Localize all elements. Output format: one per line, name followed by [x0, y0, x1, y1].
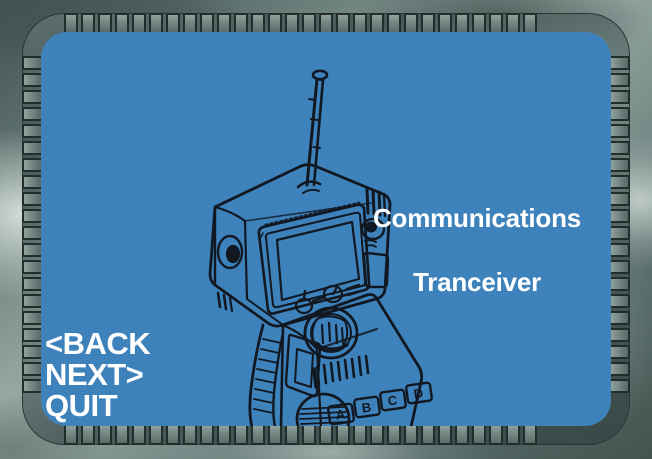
frame-notch-segment: [22, 345, 43, 359]
frame-notch-segment: [438, 13, 452, 34]
frame-notch-segment: [115, 13, 129, 34]
frame-notches-top: [64, 13, 588, 34]
frame-notch-segment: [302, 424, 316, 445]
frame-notch-segment: [183, 424, 197, 445]
frame-notch-segment: [234, 424, 248, 445]
rotary-dial: [305, 308, 357, 358]
frame-notch-segment: [98, 424, 112, 445]
page-title-line-1: Communications: [373, 203, 581, 233]
frame-notch-segment: [200, 13, 214, 34]
frame-notch-segment: [166, 13, 180, 34]
frame-notch-segment: [421, 13, 435, 34]
frame-notch-segment: [22, 107, 43, 121]
frame-notch-segment: [64, 13, 78, 34]
lens-port: [218, 236, 242, 311]
frame-notch-segment: [285, 424, 299, 445]
menu-item-back[interactable]: <BACK: [45, 328, 150, 359]
frame-notch-segment: [353, 13, 367, 34]
frame-notch-segment: [609, 73, 630, 87]
frame-notch-segment: [81, 13, 95, 34]
frame-notch-segment: [387, 13, 401, 34]
frame-notch-segment: [22, 56, 43, 70]
frame-notch-segment: [217, 424, 231, 445]
frame-notch-segment: [472, 13, 486, 34]
frame-notch-segment: [609, 158, 630, 172]
frame-notch-segment: [200, 424, 214, 445]
frame-notch-segment: [183, 13, 197, 34]
frame-notch-segment: [22, 73, 43, 87]
frame-notch-segment: [22, 124, 43, 138]
frame-notch-segment: [336, 13, 350, 34]
frame-notch-segment: [609, 226, 630, 240]
display-screen: [259, 203, 369, 314]
frame-notch-segment: [268, 424, 282, 445]
frame-notch-segment: [438, 424, 452, 445]
frame-notch-segment: [302, 13, 316, 34]
frame-notch-segment: [166, 424, 180, 445]
frame-notch-segment: [22, 311, 43, 325]
frame-notch-segment: [472, 424, 486, 445]
frame-notch-segment: [506, 424, 520, 445]
frame-notch-segment: [609, 56, 630, 70]
frame-notch-segment: [234, 13, 248, 34]
frame-notch-segment: [81, 424, 95, 445]
frame-notch-segment: [404, 424, 418, 445]
frame-notch-segment: [22, 226, 43, 240]
frame-notch-segment: [489, 13, 503, 34]
menu-item-quit[interactable]: QUIT: [45, 390, 150, 421]
frame-notch-segment: [251, 424, 265, 445]
frame-notch-segment: [22, 158, 43, 172]
frame-notch-segment: [523, 13, 537, 34]
frame-notches-left: [22, 56, 43, 403]
frame-notch-segment: [609, 192, 630, 206]
frame-notch-segment: [22, 362, 43, 376]
frame-notch-segment: [22, 260, 43, 274]
frame-notch-segment: [609, 175, 630, 189]
frame-notch-segment: [22, 90, 43, 104]
frame-notch-segment: [149, 13, 163, 34]
frame-notch-segment: [421, 424, 435, 445]
frame-notch-segment: [387, 424, 401, 445]
frame-notch-segment: [22, 209, 43, 223]
frame-notch-segment: [268, 13, 282, 34]
frame-notch-segment: [336, 424, 350, 445]
frame-notch-segment: [22, 277, 43, 291]
frame-notch-segment: [98, 13, 112, 34]
frame-notch-segment: [455, 424, 469, 445]
page-title-line-2: Tranceiver: [413, 267, 541, 297]
frame-notch-segment: [609, 124, 630, 138]
frame-notch-segment: [609, 379, 630, 393]
frame-notch-segment: [609, 107, 630, 121]
content-panel: A B C D E Communications Tranceiver <BAC…: [41, 32, 611, 426]
frame-notch-segment: [132, 424, 146, 445]
frame-notch-segment: [370, 13, 384, 34]
frame-notches-bottom: [64, 424, 588, 445]
frame-notch-segment: [217, 13, 231, 34]
frame-notch-segment: [609, 294, 630, 308]
frame-notch-segment: [353, 424, 367, 445]
frame-notch-segment: [22, 294, 43, 308]
frame-notch-segment: [319, 424, 333, 445]
frame-notch-segment: [22, 379, 43, 393]
frame-notches-right: [609, 56, 630, 403]
frame-notch-segment: [609, 328, 630, 342]
antenna-icon: [298, 71, 327, 193]
frame-notch-segment: [609, 243, 630, 257]
frame-notch-segment: [609, 209, 630, 223]
frame-notch-segment: [149, 424, 163, 445]
round-speaker: [297, 394, 349, 426]
menu-item-next[interactable]: NEXT>: [45, 359, 150, 390]
frame-notch-segment: [506, 13, 520, 34]
frame-notch-segment: [251, 13, 265, 34]
frame-notch-segment: [319, 13, 333, 34]
frame-notch-segment: [115, 424, 129, 445]
vent-slots: [314, 356, 368, 387]
frame-notch-segment: [609, 311, 630, 325]
frame-notch-segment: [132, 13, 146, 34]
frame-notch-segment: [609, 260, 630, 274]
frame-notch-segment: [609, 141, 630, 155]
application-screen: A B C D E Communications Tranceiver <BAC…: [0, 0, 652, 459]
frame-notch-segment: [64, 424, 78, 445]
frame-notch-segment: [22, 175, 43, 189]
frame-notch-segment: [285, 13, 299, 34]
frame-notch-segment: [489, 424, 503, 445]
frame-notch-segment: [609, 90, 630, 104]
frame-notch-segment: [609, 362, 630, 376]
frame-notch-segment: [523, 424, 537, 445]
frame-notch-segment: [455, 13, 469, 34]
frame-notch-segment: [22, 243, 43, 257]
frame-notch-segment: [609, 345, 630, 359]
navigation-menu: <BACK NEXT> QUIT: [45, 328, 150, 421]
frame-notch-segment: [22, 192, 43, 206]
handle-grip: [250, 325, 283, 426]
frame-notch-segment: [22, 328, 43, 342]
frame-notch-segment: [404, 13, 418, 34]
page-title: Communications Tranceiver: [357, 170, 597, 298]
frame-notch-segment: [609, 277, 630, 291]
frame-notch-segment: [22, 141, 43, 155]
frame-notch-segment: [370, 424, 384, 445]
